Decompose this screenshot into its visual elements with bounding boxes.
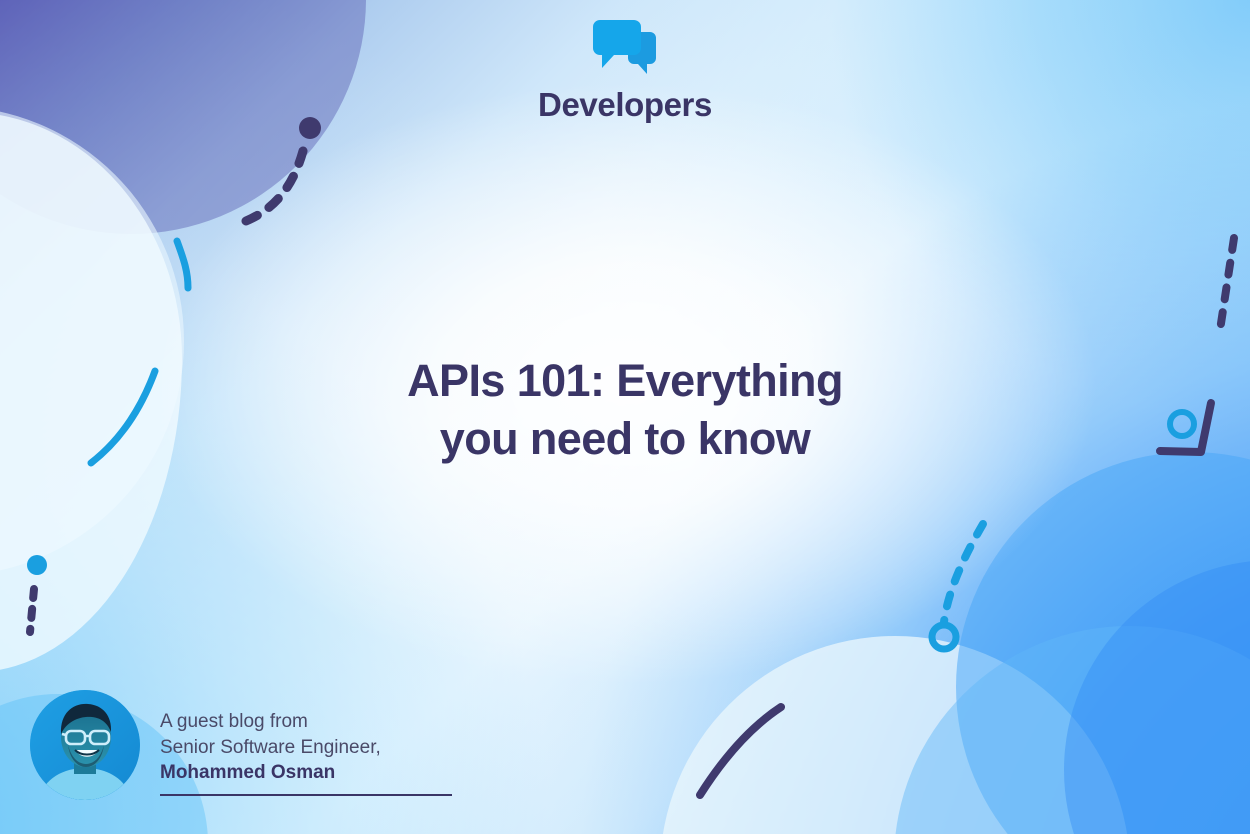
blob-blue-bottom-right-deep — [1064, 560, 1250, 834]
speech-bubbles-icon — [588, 18, 662, 76]
long-arc-blue-left-icon — [91, 371, 155, 463]
blob-blue-bottom-right-two — [894, 626, 1250, 834]
page-title-line-1: APIs 101: Everything — [407, 355, 843, 406]
brand-wordmark: Developers — [538, 86, 712, 124]
corner-bracket-navy-right-icon — [1160, 403, 1211, 452]
avatar-portrait-icon — [30, 690, 140, 800]
author-text: A guest blog from Senior Software Engine… — [160, 709, 452, 800]
dashed-arc-navy-top-left-icon — [246, 151, 303, 221]
author-intro-line-2: Senior Software Engineer, — [160, 735, 452, 761]
page-title: APIs 101: Everything you need to know — [180, 352, 1070, 467]
ring-blue-bottom-right-icon — [932, 625, 956, 649]
author-block: A guest blog from Senior Software Engine… — [30, 690, 452, 800]
short-arc-blue-left-icon — [177, 241, 188, 288]
hero-banner: Developers APIs 101: Everything you need… — [0, 0, 1250, 834]
author-intro-line-1: A guest blog from — [160, 709, 452, 735]
author-name: Mohammed Osman — [160, 760, 452, 786]
page-title-line-2: you need to know — [180, 410, 1070, 468]
dashed-line-navy-left-icon — [30, 589, 34, 632]
dot-filled-blue-left-icon — [27, 555, 47, 575]
author-underline — [160, 794, 452, 796]
brand-logo: Developers — [0, 18, 1250, 124]
dashed-arc-blue-bottom-right-icon — [944, 524, 983, 622]
blob-pale-bottom-center — [660, 636, 1130, 834]
ring-blue-right-icon — [1170, 412, 1194, 436]
dashed-line-navy-right-icon — [1220, 238, 1234, 330]
arc-navy-bottom-center-icon — [700, 707, 781, 795]
avatar — [30, 690, 140, 800]
blob-pale-top-left — [0, 106, 184, 576]
blob-blue-bottom-right-one — [956, 452, 1250, 834]
blob-white-left — [0, 112, 182, 672]
